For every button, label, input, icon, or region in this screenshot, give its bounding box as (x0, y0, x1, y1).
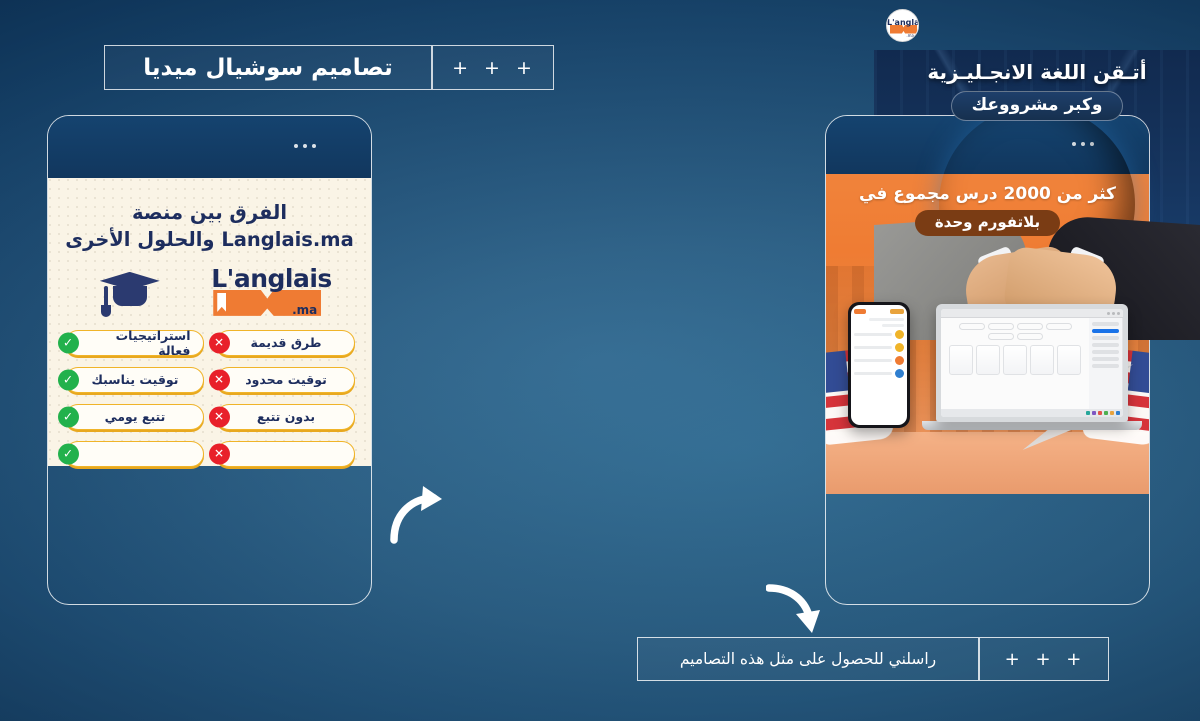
cross-icon: ✕ (209, 369, 230, 390)
comparison-rows: ✓ استراتيجيات فعالة ✕ طرق قديمة ✓ توقيت … (48, 318, 371, 467)
comparison-row: ✓ استراتيجيات فعالة ✕ طرق قديمة (62, 330, 357, 356)
card-right-platform[interactable]: كثر من 2000 درس مجموع في بلاتفورم وحدة (825, 115, 1150, 605)
left-card-content: الفرق بين منصة Langlais.ma والحلول الأخر… (48, 178, 371, 466)
cta-plus-marks: + + + (980, 638, 1108, 680)
card-left-comparison[interactable]: الفرق بين منصة Langlais.ma والحلول الأخر… (47, 115, 372, 605)
laptop-mockup (936, 304, 1128, 422)
cta-divider (978, 638, 980, 680)
right-title-suffix: درس مجموع في (859, 184, 998, 204)
check-icon: ✓ (58, 332, 79, 353)
header-plus-marks: + + + (433, 46, 553, 89)
pill-drawback-label: بدون تتبع (243, 409, 327, 424)
pill-advantage-label: توقيت يناسبك (78, 372, 191, 387)
pill-advantage-label: استراتيجيات فعالة (66, 328, 203, 358)
header-badge: تصاميم سوشيال ميديا + + + (104, 45, 554, 90)
cta-badge[interactable]: راسلني للحصول على مثل هذه التصاميم + + + (637, 637, 1109, 681)
laptop-base (922, 421, 1142, 430)
pill-drawback[interactable]: ✕ طرق قديمة (216, 330, 355, 356)
pill-advantage[interactable]: ✓ تتبع يومي (65, 404, 204, 430)
pill-advantage[interactable]: ✓ استراتيجيات فعالة (65, 330, 204, 356)
page-title: تصاميم سوشيال ميديا (105, 46, 431, 89)
left-card-title: الفرق بين منصة Langlais.ma والحلول الأخر… (48, 178, 371, 254)
curved-arrow-down-icon (766, 578, 832, 638)
pill-advantage[interactable]: ✓ توقيت يناسبك (65, 367, 204, 393)
cta-text[interactable]: راسلني للحصول على مثل هذه التصاميم (638, 638, 978, 680)
header-divider (431, 46, 433, 89)
post-headline: أتـقن اللغة الانجـليـزية (874, 50, 1200, 84)
cross-icon: ✕ (209, 332, 230, 353)
cross-icon: ✕ (209, 406, 230, 427)
comparison-row: ✓ توقيت يناسبك ✕ توقيت محدود (62, 367, 357, 393)
left-title-suffix: والحلول الأخرى (65, 228, 214, 251)
pill-advantage-label: تتبع يومي (91, 409, 178, 424)
lesson-count: 2000 (1004, 184, 1051, 204)
avatar[interactable]: L'anglais .ma (886, 9, 919, 42)
curved-arrow-right-icon (388, 482, 454, 548)
pill-drawback-label: توقيت محدود (231, 372, 339, 387)
phone-mockup (848, 302, 910, 428)
comparison-row-partial: ✓ ✕ (62, 441, 357, 467)
avatar-tld: .ma (906, 33, 914, 38)
avatar-wordmark: L'anglais (887, 18, 918, 27)
left-title-line-2: Langlais.ma والحلول الأخرى (64, 227, 355, 254)
pill-drawback[interactable]: ✕ توقيت محدود (216, 367, 355, 393)
right-title: كثر من 2000 درس مجموع في (826, 174, 1149, 204)
left-card-logos: L'anglais .ma (48, 254, 371, 318)
right-title-prefix: كثر من (1057, 184, 1116, 204)
left-title-brand: Langlais.ma (221, 228, 353, 251)
pill-drawback[interactable]: ✕ (216, 441, 355, 467)
graduation-cap-icon (96, 266, 164, 316)
left-more-options-icon[interactable] (294, 144, 316, 148)
check-icon: ✓ (58, 406, 79, 427)
comparison-row: ✓ تتبع يومي ✕ بدون تتبع (62, 404, 357, 430)
pill-advantage[interactable]: ✓ (65, 441, 204, 467)
left-card-topbar (48, 116, 371, 178)
langlais-logo: L'anglais .ma (211, 264, 323, 318)
logo-tld: .ma (292, 303, 317, 317)
cross-icon: ✕ (209, 443, 230, 464)
check-icon: ✓ (58, 443, 79, 464)
pill-drawback-label: طرق قديمة (236, 335, 333, 350)
post-subheadline: وكبر مشرووعك (951, 91, 1124, 121)
right-subtitle: بلاتفورم وحدة (915, 210, 1060, 236)
pill-drawback[interactable]: ✕ بدون تتبع (216, 404, 355, 430)
check-icon: ✓ (58, 369, 79, 390)
left-title-line-1: الفرق بين منصة (64, 200, 355, 227)
logo-wordmark: L'anglais (211, 264, 323, 293)
